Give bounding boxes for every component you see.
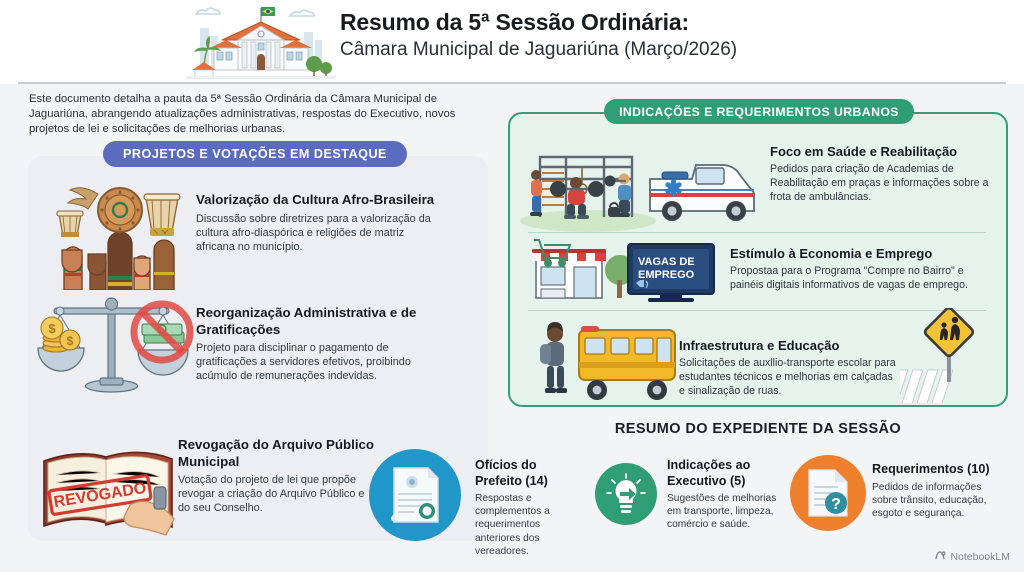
page-subtitle: Câmara Municipal de Jaguariúna (Março/20…: [340, 37, 980, 63]
summary-stat-1-body: Respostas e complementos a requerimentos…: [475, 492, 575, 558]
svg-text:EMPREGO: EMPREGO: [638, 269, 695, 281]
urban-item-1-text: Foco em Saúde e Reabilitação Pedidos par…: [770, 144, 998, 204]
header: Resumo da 5ª Sessão Ordinária: Câmara Mu…: [0, 0, 1024, 84]
urban-item-1-body: Pedidos para criação de Academias de Rea…: [770, 163, 998, 204]
document-seal-icon: [369, 449, 461, 541]
summary-stat-2-heading: Indicações ao Executivo (5): [667, 458, 777, 489]
city-hall-building-illustration: [186, 2, 336, 82]
summary-title: RESUMO DO EXPEDIENTE DA SESSÃO: [508, 421, 1008, 437]
projects-panel-title: PROJETOS E VOTAÇÕES EM DESTAQUE: [103, 141, 407, 167]
infographic-page: Resumo da 5ª Sessão Ordinária: Câmara Mu…: [0, 0, 1024, 572]
balance-scale-coins-prohibited-money-illustration: $ $: [36, 292, 194, 396]
project-item-1-text: Valorização da Cultura Afro-Brasileira D…: [196, 192, 441, 254]
summary-stat-2-body: Sugestões de melhorias em transporte, li…: [667, 492, 777, 532]
urban-requests-panel-title: INDICAÇÕES E REQUERIMENTOS URBANOS: [604, 99, 914, 124]
intro-paragraph: Este documento detalha a pauta da 5ª Ses…: [29, 92, 484, 138]
project-item-2-heading: Reorganização Administrativa e de Gratif…: [196, 305, 446, 338]
urban-item-3-body: Solicitações de auxllio-transporte escol…: [679, 357, 901, 398]
svg-text:?: ?: [831, 496, 841, 513]
svg-text:$: $: [48, 321, 56, 336]
project-item-1-body: Discussão sobre diretrizes para a valori…: [196, 212, 441, 255]
urban-item-2-text: Estímulo à Economia e Emprego Propostaa …: [730, 246, 998, 293]
header-text-block: Resumo da 5ª Sessão Ordinária: Câmara Mu…: [340, 8, 980, 63]
urban-item-2-body: Propostaa para o Programa "Compre no Bai…: [730, 265, 998, 293]
header-divider: [18, 82, 1006, 84]
watermark-label: NotebookLM: [950, 551, 1010, 563]
notebooklm-logo-icon: [935, 550, 946, 564]
svg-text:$: $: [67, 334, 74, 348]
african-drums-raised-hands-illustration: [34, 172, 194, 290]
lightbulb-arrow-icon: [595, 463, 657, 525]
svg-text:VAGAS DE: VAGAS DE: [638, 256, 695, 268]
project-item-3-text: Revogação do Arquivo Público Municipal V…: [178, 437, 378, 516]
summary-stat-1-text: Ofícios do Prefeito (14) Respostas e com…: [475, 458, 575, 558]
urban-divider-1: [528, 232, 986, 233]
watermark: NotebookLM: [935, 550, 1010, 564]
page-title: Resumo da 5ª Sessão Ordinária:: [340, 8, 980, 36]
summary-stat-3-body: Pedidos de informações sobre trânsito, e…: [872, 481, 1002, 521]
summary-stat-3-text: Requerimentos (10) Pedidos de informaçõe…: [872, 462, 1002, 520]
storefront-job-vacancies-screen-illustration: VAGAS DE EMPREGO: [528, 236, 723, 308]
summary-stat-3-heading: Requerimentos (10): [872, 462, 1002, 478]
project-item-1-heading: Valorização da Cultura Afro-Brasileira: [196, 192, 441, 209]
school-bus-crosswalk-sign-illustration: [525, 312, 685, 404]
revoked-stamp-book-illustration: REVOGADO: [34, 425, 182, 537]
summary-stat-1-heading: Ofícios do Prefeito (14): [475, 458, 575, 489]
pedestrian-crossing-sign-icon: [900, 308, 1005, 403]
urban-item-3-text: Infraestrutura e Educação Solicitações d…: [679, 338, 901, 398]
outdoor-gym-ambulance-illustration: [520, 133, 765, 233]
project-item-2-text: Reorganização Administrativa e de Gratif…: [196, 305, 446, 384]
summary-stat-2-text: Indicações ao Executivo (5) Sugestões de…: [667, 458, 777, 532]
urban-item-3-heading: Infraestrutura e Educação: [679, 338, 901, 354]
urban-item-1-heading: Foco em Saúde e Reabilitação: [770, 144, 998, 160]
project-item-3-body: Votação do projeto de lei que propõe rev…: [178, 473, 378, 516]
project-item-2-body: Projeto para disciplinar o pagamento de …: [196, 341, 446, 384]
urban-item-2-heading: Estímulo à Economia e Emprego: [730, 246, 998, 262]
document-question-icon: ?: [790, 455, 866, 531]
project-item-3-heading: Revogação do Arquivo Público Municipal: [178, 437, 378, 470]
